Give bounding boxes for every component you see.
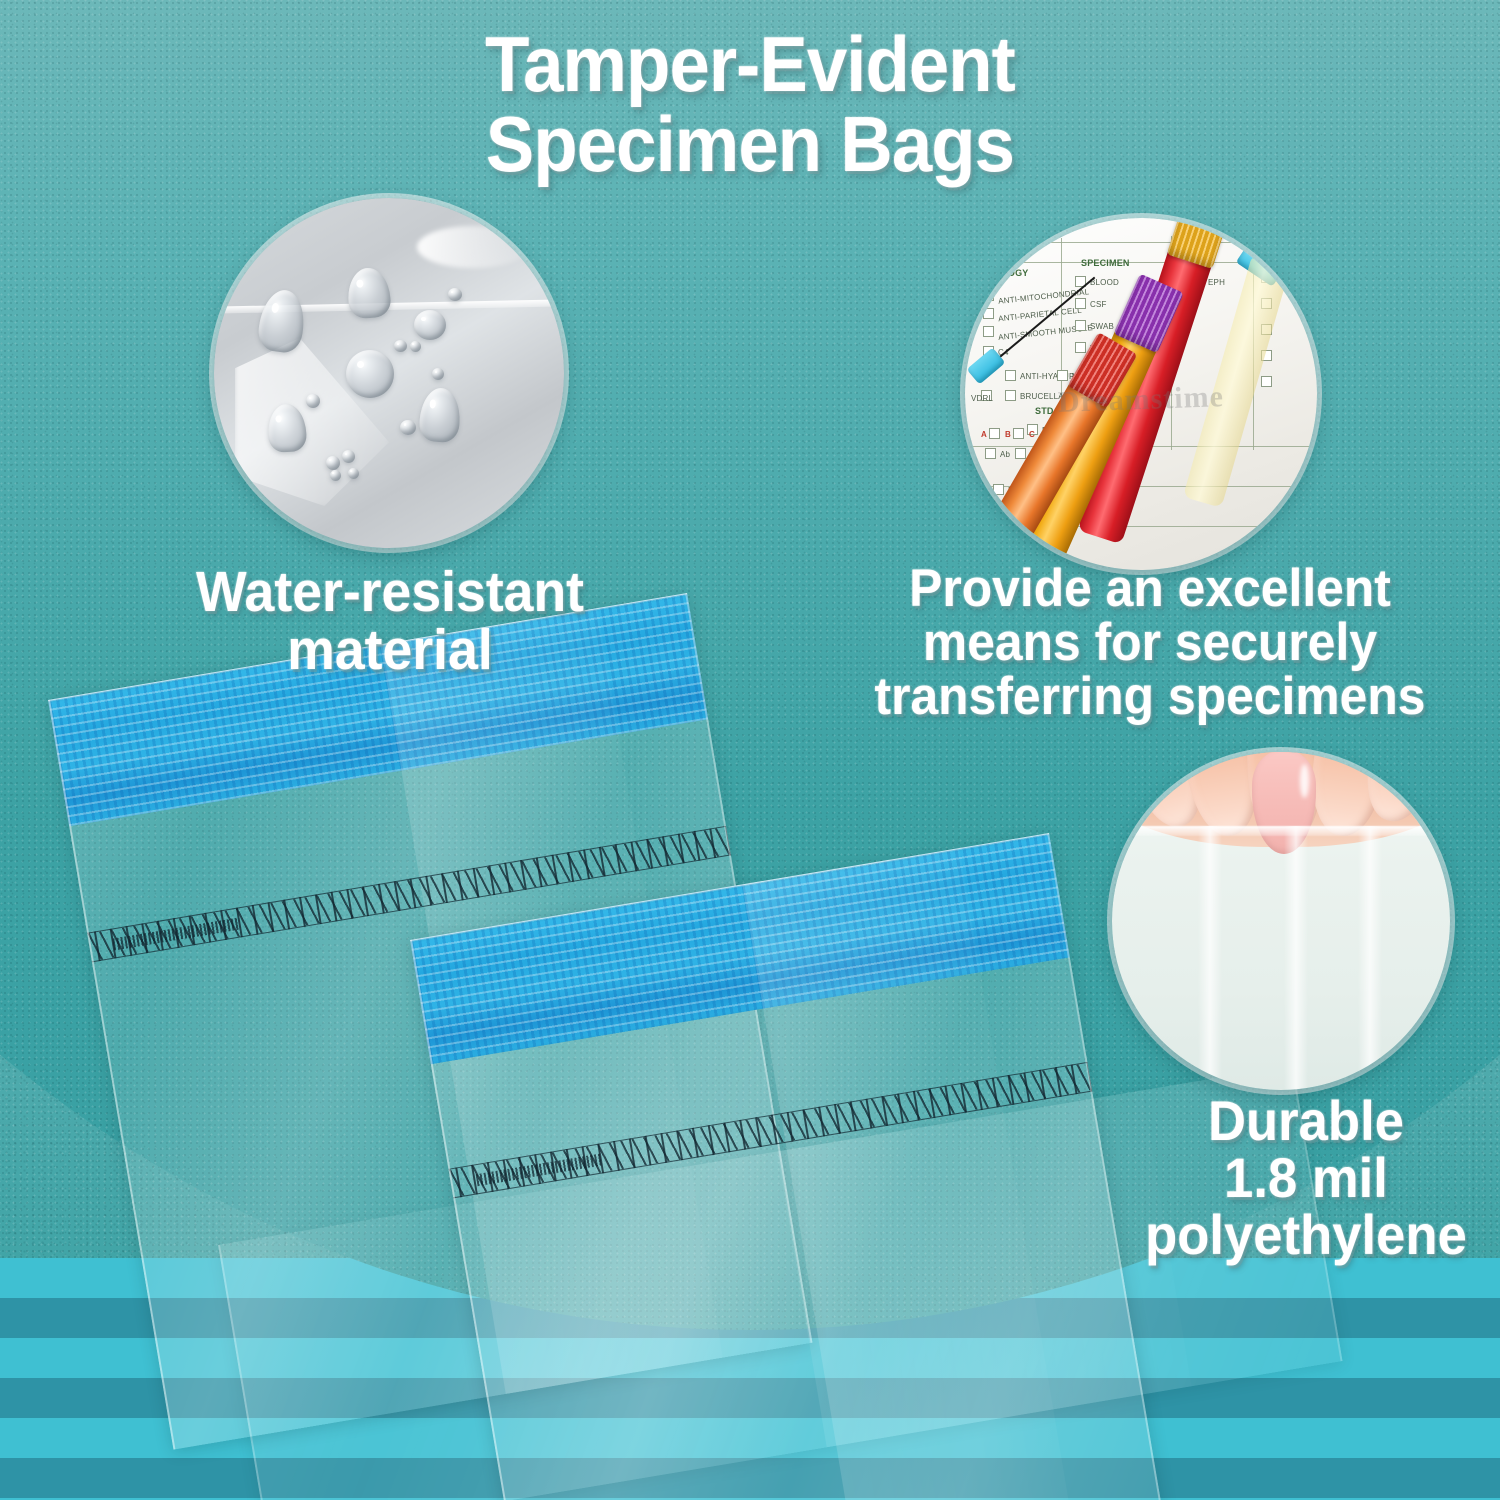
water-droplet	[414, 310, 446, 340]
film-streak	[1284, 826, 1308, 1090]
caption-durable: Durable 1.8 mil polyethylene	[1131, 1092, 1481, 1263]
form-checkbox[interactable]	[1005, 370, 1016, 381]
form-checkbox[interactable]	[985, 448, 996, 459]
form-checkbox[interactable]	[1075, 320, 1086, 331]
form-checkbox[interactable]	[1057, 370, 1068, 381]
water-droplet	[394, 340, 407, 352]
form-blood-group: B	[1005, 430, 1011, 439]
form-row-label: BLOOD	[1090, 278, 1119, 287]
water-droplet	[348, 468, 359, 479]
product-infographic: OLOGY SPECIMEN MICRO ATE ANTI-MITOCHONDR…	[0, 0, 1500, 1500]
form-checkbox[interactable]	[983, 326, 994, 337]
caption-line: 1.8 mil	[1131, 1149, 1481, 1206]
form-blood-group: C	[1029, 430, 1035, 439]
water-droplet	[342, 450, 355, 463]
form-checkbox[interactable]	[989, 428, 1000, 439]
caption-line: material	[136, 621, 644, 679]
durable-film-photo	[1112, 752, 1450, 1090]
caption-line: Provide an excellent	[840, 562, 1460, 616]
feature-photo-durable	[1112, 752, 1450, 1090]
water-droplet	[448, 288, 462, 301]
form-blood-group: Ab	[1000, 450, 1010, 459]
fingernail-highlight	[1300, 764, 1309, 798]
form-checkbox[interactable]	[993, 484, 1004, 495]
film-top-edge	[1112, 826, 1450, 836]
form-line	[965, 242, 1317, 243]
form-checkbox[interactable]	[1013, 428, 1024, 439]
film-streak	[1358, 826, 1382, 1090]
water-droplet	[400, 420, 416, 435]
caption-line: Water-resistant	[136, 563, 644, 621]
caption-line: transferring specimens	[840, 670, 1460, 724]
water-droplet	[330, 470, 341, 481]
film-highlight	[417, 226, 529, 268]
form-checkbox[interactable]	[1261, 246, 1272, 257]
form-header: SPECIMEN	[1081, 258, 1130, 268]
caption-water-resistant: Water-resistant material	[136, 563, 644, 679]
form-checkbox[interactable]	[983, 290, 994, 301]
water-photo	[214, 198, 564, 548]
water-droplet	[326, 456, 340, 470]
caption-line: Durable	[1131, 1092, 1481, 1149]
water-droplet	[306, 394, 320, 408]
form-checkbox[interactable]	[1075, 298, 1086, 309]
page-title: Tamper-Evident Specimen Bags	[53, 24, 1448, 185]
title-line-2: Specimen Bags	[53, 104, 1448, 184]
water-droplet	[432, 368, 444, 380]
film-streak	[1198, 826, 1222, 1090]
title-line-1: Tamper-Evident	[485, 20, 1015, 108]
form-header: OLOGY	[995, 268, 1029, 278]
form-row-label: CSF	[1090, 300, 1107, 309]
water-droplet	[346, 350, 394, 398]
form-row-label: EPH	[1208, 278, 1225, 287]
caption-secure-transfer: Provide an excellent means for securely …	[840, 562, 1460, 724]
form-checkbox[interactable]	[983, 308, 994, 319]
caption-line: means for securely	[840, 616, 1460, 670]
form-checkbox[interactable]	[1015, 448, 1026, 459]
lab-form-photo: OLOGY SPECIMEN MICRO ATE ANTI-MITOCHONDR…	[965, 218, 1317, 570]
form-blood-group: A	[981, 430, 987, 439]
specimen-bag-small	[410, 833, 1165, 1500]
feature-photo-secure-transfer: OLOGY SPECIMEN MICRO ATE ANTI-MITOCHONDR…	[965, 218, 1317, 570]
feature-photo-water-resistant	[214, 198, 564, 548]
caption-line: polyethylene	[1131, 1206, 1481, 1263]
water-droplet	[410, 341, 421, 352]
form-checkbox[interactable]	[1075, 342, 1086, 353]
